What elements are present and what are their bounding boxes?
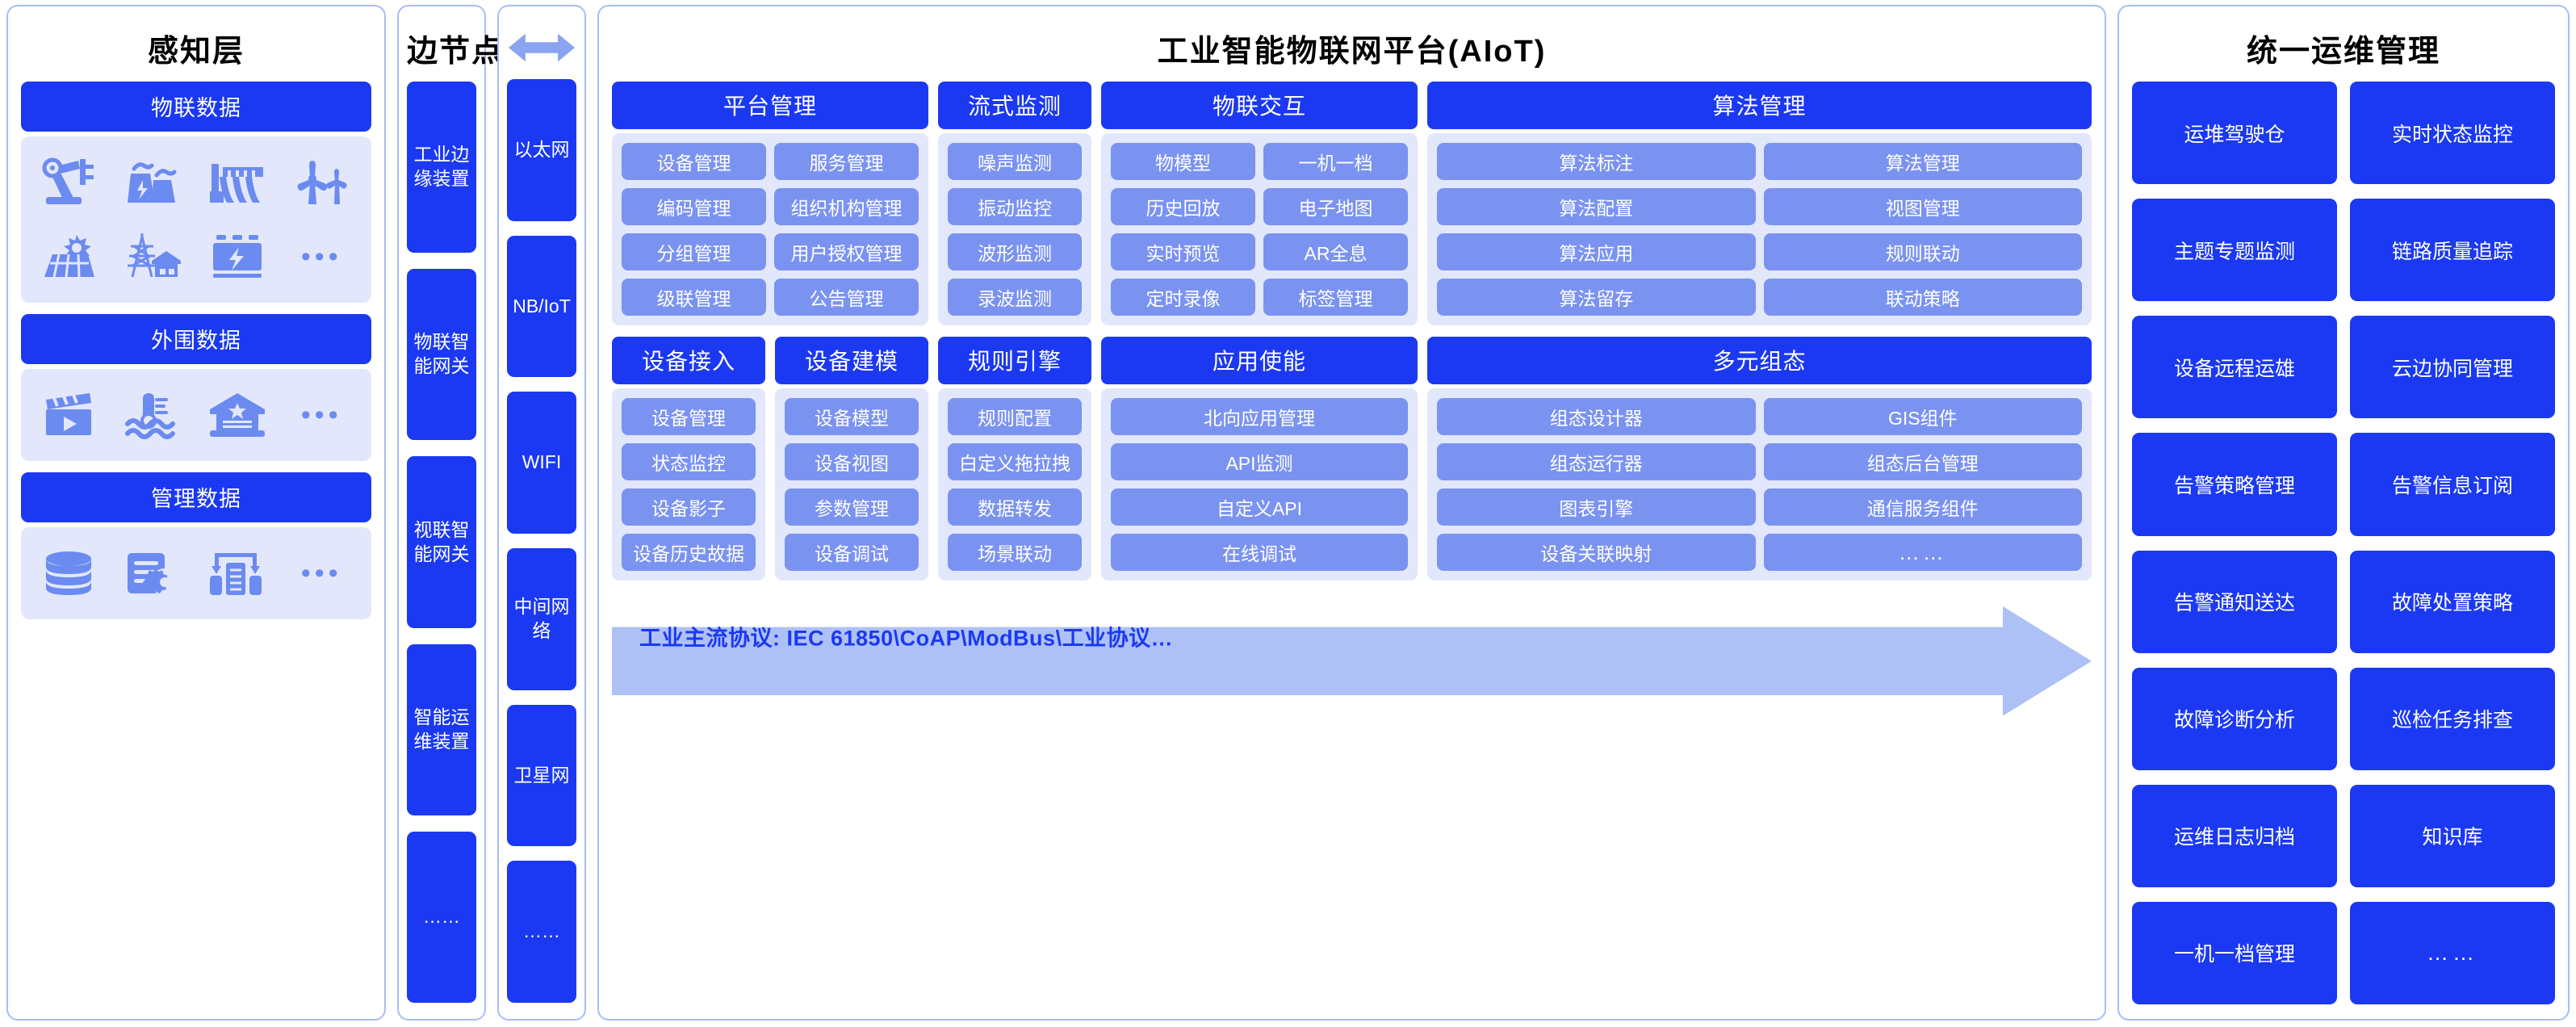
- ops-item[interactable]: 故障诊断分析: [2132, 668, 2337, 770]
- more-dots-label: •••: [301, 243, 342, 270]
- ops-items-grid: 运堆驾驶仓 实时状态监控 主题专题监测 链路质量追踪 设备远程运雄 云边协同管理…: [2132, 82, 2555, 1006]
- platform-tile[interactable]: 振动监控: [948, 188, 1082, 225]
- platform-tile[interactable]: 组织机构管理: [774, 188, 919, 225]
- card-title: 物联交互: [1101, 82, 1418, 129]
- platform-card-multi-configuration: 多元组态 组态设计器 GIS组件 组态运行器 组态后台管理 图表引擎 通信服务组…: [1427, 337, 2092, 581]
- transmission-tower-icon: [113, 222, 197, 291]
- platform-tile[interactable]: 用户授权管理: [774, 233, 919, 270]
- water-sensor-icon: [113, 380, 197, 450]
- platform-tile[interactable]: 算法配置: [1437, 188, 1756, 225]
- platform-tile[interactable]: 噪声监测: [948, 143, 1082, 180]
- platform-tile[interactable]: 设备管理: [622, 398, 756, 435]
- card-tiles: 规则配置 白定义拖拉拽 数据转发 场景联动: [938, 388, 1091, 581]
- ops-item[interactable]: 一机一档管理: [2132, 902, 2337, 1004]
- edge-node-item[interactable]: 视联智能网关: [407, 456, 476, 627]
- platform-card-app-enablement: 应用使能 北向应用管理 API监测 自定义API 在线调试: [1101, 337, 1418, 581]
- platform-card-stream-monitor: 流式监测 噪声监测 振动监控 波形监测 录波监测: [938, 82, 1091, 325]
- platform-tile[interactable]: AR全息: [1263, 233, 1408, 270]
- platform-card-algorithm-mgmt: 算法管理 算法标注 算法管理 算法配置 视图管理 算法应用 规则联动 算法留存 …: [1427, 82, 2092, 325]
- platform-title: 工业智能物联网平台(AIoT): [612, 16, 2092, 82]
- card-tiles: 设备管理 状态监控 设备影子 设备历史故据: [612, 388, 765, 581]
- platform-tile[interactable]: 电子地图: [1263, 188, 1408, 225]
- more-dots-label: •••: [301, 401, 342, 429]
- platform-tile[interactable]: 设备调试: [785, 534, 919, 571]
- card-tiles: 设备模型 设备视图 参数管理 设备调试: [775, 388, 928, 581]
- sense-group-label: 管理数据: [21, 472, 371, 522]
- data-flow-icon: [196, 539, 280, 608]
- edge-node-title: 边节点: [407, 16, 476, 82]
- protocol-banner: 工业主流协议: IEC 61850\CoAP\ModBus\工业协议…: [612, 606, 2092, 666]
- platform-tile[interactable]: 状态监控: [622, 443, 756, 480]
- card-title: 多元组态: [1427, 337, 2092, 384]
- wind-turbine-icon: [280, 148, 364, 217]
- ops-management-panel: 统一运维管理 运堆驾驶仓 实时状态监控 主题专题监测 链路质量追踪 设备远程运雄…: [2117, 5, 2570, 1021]
- hydro-dam-icon: [196, 148, 280, 217]
- ops-item[interactable]: 实时状态监控: [2350, 82, 2555, 184]
- platform-tile[interactable]: 编码管理: [622, 188, 766, 225]
- platform-tile[interactable]: 设备历史故据: [622, 534, 756, 571]
- more-dots-icon: •••: [280, 222, 364, 291]
- card-tiles: 算法标注 算法管理 算法配置 视图管理 算法应用 规则联动 算法留存 联动策略: [1427, 133, 2092, 325]
- ops-item[interactable]: 主题专题监测: [2132, 199, 2337, 301]
- card-title: 平台管理: [612, 82, 928, 129]
- ops-item[interactable]: 云边协同管理: [2350, 316, 2555, 418]
- platform-tile[interactable]: 服务管理: [774, 143, 919, 180]
- ops-item[interactable]: 巡检任务排查: [2350, 668, 2555, 770]
- platform-card-rule-engine: 规则引擎 规则配置 白定义拖拉拽 数据转发 场景联动: [938, 337, 1091, 581]
- platform-tile-more[interactable]: ……: [1764, 534, 2083, 571]
- protocol-label: 工业主流协议: IEC 61850\CoAP\ModBus\工业协议…: [639, 621, 1173, 652]
- network-item[interactable]: 以太网: [507, 79, 576, 221]
- ops-item[interactable]: 链路质量追踪: [2350, 199, 2555, 301]
- platform-tile[interactable]: 数据转发: [948, 488, 1082, 526]
- more-dots-icon: •••: [280, 380, 364, 450]
- platform-panel: 工业智能物联网平台(AIoT) 平台管理 设备管理 服务管理 编码管理 组织机构…: [597, 5, 2106, 1021]
- platform-tile[interactable]: 物模型: [1111, 143, 1255, 180]
- platform-tile[interactable]: 通信服务组件: [1764, 488, 2083, 526]
- platform-card-platform-mgmt: 平台管理 设备管理 服务管理 编码管理 组织机构管理 分组管理 用户授权管理 级…: [612, 82, 928, 325]
- platform-tile[interactable]: 算法应用: [1437, 233, 1756, 270]
- platform-row-1: 平台管理 设备管理 服务管理 编码管理 组织机构管理 分组管理 用户授权管理 级…: [612, 82, 2092, 325]
- platform-tile[interactable]: 波形监测: [948, 233, 1082, 270]
- ops-management-title: 统一运维管理: [2132, 16, 2555, 82]
- platform-tile[interactable]: 视图管理: [1764, 188, 2083, 225]
- platform-tile[interactable]: 算法标注: [1437, 143, 1756, 180]
- ops-item[interactable]: 故障处置策略: [2350, 551, 2555, 653]
- platform-card-device-modeling: 设备建模 设备模型 设备视图 参数管理 设备调试: [775, 337, 928, 581]
- sense-group-label: 物联数据: [21, 82, 371, 132]
- platform-tile[interactable]: 参数管理: [785, 488, 919, 526]
- card-tiles: 北向应用管理 API监测 自定义API 在线调试: [1101, 388, 1418, 581]
- network-item[interactable]: 卫星网: [507, 705, 576, 847]
- ops-item[interactable]: 知识库: [2350, 785, 2555, 887]
- edge-node-item[interactable]: 物联智能网关: [407, 269, 476, 440]
- platform-tile[interactable]: 设备关联映射: [1437, 534, 1756, 571]
- platform-tile[interactable]: 标签管理: [1263, 279, 1408, 316]
- sense-group-iot-data: 物联数据: [21, 82, 371, 303]
- video-clapper-icon: [29, 380, 113, 450]
- battery-storage-icon: [196, 222, 280, 291]
- platform-tile[interactable]: 场景联动: [948, 534, 1082, 571]
- platform-tile[interactable]: 定时录像: [1111, 279, 1255, 316]
- solar-panel-icon: [29, 222, 113, 291]
- platform-tile[interactable]: 组态设计器: [1437, 398, 1756, 435]
- card-title: 流式监测: [938, 82, 1091, 129]
- platform-tile[interactable]: 实时预览: [1111, 233, 1255, 270]
- platform-tile[interactable]: 组态后台管理: [1764, 443, 2083, 480]
- sense-group-icons: •••: [21, 527, 371, 619]
- platform-tile[interactable]: 组态运行器: [1437, 443, 1756, 480]
- platform-card-iot-interaction: 物联交互 物模型 一机一档 历史回放 电子地图 实时预览 AR全息 定时录像 标…: [1101, 82, 1418, 325]
- platform-tile[interactable]: 规则配置: [948, 398, 1082, 435]
- card-tiles: 噪声监测 振动监控 波形监测 录波监测: [938, 133, 1091, 325]
- platform-tile[interactable]: 分组管理: [622, 233, 766, 270]
- platform-tile[interactable]: 设备管理: [622, 143, 766, 180]
- platform-rows: 平台管理 设备管理 服务管理 编码管理 组织机构管理 分组管理 用户授权管理 级…: [612, 82, 2092, 1008]
- card-title: 应用使能: [1101, 337, 1418, 384]
- card-tiles: 物模型 一机一档 历史回放 电子地图 实时预览 AR全息 定时录像 标签管理: [1101, 133, 1418, 325]
- more-dots-icon: •••: [280, 539, 364, 608]
- network-item[interactable]: 中间网络: [507, 548, 576, 690]
- power-plant-icon: [113, 148, 197, 217]
- platform-tile[interactable]: 算法留存: [1437, 279, 1756, 316]
- network-item[interactable]: WIFI: [507, 392, 576, 534]
- card-title: 设备接入: [612, 337, 765, 384]
- card-tiles: 设备管理 服务管理 编码管理 组织机构管理 分组管理 用户授权管理 级联管理 公…: [612, 133, 928, 325]
- card-title: 规则引擎: [938, 337, 1091, 384]
- platform-tile[interactable]: 联动策略: [1764, 279, 2083, 316]
- platform-tile[interactable]: 算法管理: [1764, 143, 2083, 180]
- platform-tile[interactable]: API监测: [1111, 443, 1408, 480]
- platform-tile[interactable]: 设备模型: [785, 398, 919, 435]
- document-settings-icon: [113, 539, 197, 608]
- more-dots-label: •••: [301, 560, 342, 587]
- database-icon: [29, 539, 113, 608]
- ops-item[interactable]: 告警信息订阅: [2350, 433, 2555, 535]
- ops-item[interactable]: 告警策略管理: [2132, 433, 2337, 535]
- platform-tile[interactable]: 录波监测: [948, 279, 1082, 316]
- network-item[interactable]: NB/IoT: [507, 236, 576, 378]
- double-arrow-icon: [507, 16, 576, 79]
- ops-item[interactable]: 设备远程运雄: [2132, 316, 2337, 418]
- sense-layer-panel: 感知层 物联数据: [6, 5, 386, 1021]
- sense-group-icons: •••: [21, 136, 371, 303]
- robot-arm-icon: [29, 148, 113, 217]
- platform-tile[interactable]: 北向应用管理: [1111, 398, 1408, 435]
- platform-tile[interactable]: 设备视图: [785, 443, 919, 480]
- network-item-more[interactable]: ……: [507, 861, 576, 1003]
- platform-tile[interactable]: 规则联动: [1764, 233, 2083, 270]
- ops-item-more[interactable]: ……: [2350, 902, 2555, 1004]
- platform-tile[interactable]: GIS组件: [1764, 398, 2083, 435]
- platform-tile[interactable]: 公告管理: [774, 279, 919, 316]
- ops-item[interactable]: 运维日志归档: [2132, 785, 2337, 887]
- card-title: 算法管理: [1427, 82, 2092, 129]
- platform-tile[interactable]: 一机一档: [1263, 143, 1408, 180]
- platform-tile[interactable]: 级联管理: [622, 279, 766, 316]
- edge-node-list: 工业边缘装置 物联智能网关 视联智能网关 智能运维装置 ……: [407, 82, 476, 1006]
- ops-item[interactable]: 运堆驾驶仓: [2132, 82, 2337, 184]
- platform-tile[interactable]: 图表引擎: [1437, 488, 1756, 526]
- sense-layer-groups: 物联数据: [21, 82, 371, 1006]
- platform-tile[interactable]: 历史回放: [1111, 188, 1255, 225]
- edge-node-item-more[interactable]: ……: [407, 832, 476, 1003]
- edge-node-item[interactable]: 工业边缘装置: [407, 82, 476, 253]
- architecture-diagram: 感知层 物联数据: [0, 0, 2576, 1027]
- sense-layer-title: 感知层: [21, 16, 371, 82]
- sense-group-icons: •••: [21, 369, 371, 461]
- platform-card-device-access: 设备接入 设备管理 状态监控 设备影子 设备历史故据: [612, 337, 765, 581]
- edge-node-item[interactable]: 智能运维装置: [407, 644, 476, 815]
- sense-group-label: 外围数据: [21, 314, 371, 364]
- card-title: 设备建模: [775, 337, 928, 384]
- ops-item[interactable]: 告警通知送达: [2132, 551, 2337, 653]
- platform-tile[interactable]: 设备影子: [622, 488, 756, 526]
- edge-node-panel: 边节点 工业边缘装置 物联智能网关 视联智能网关 智能运维装置 ……: [397, 5, 486, 1021]
- government-building-icon: [196, 380, 280, 450]
- network-panel: 以太网 NB/IoT WIFI 中间网络 卫星网 ……: [497, 5, 586, 1021]
- platform-tile[interactable]: 自定义API: [1111, 488, 1408, 526]
- sense-group-management-data: 管理数据: [21, 472, 371, 619]
- platform-tile[interactable]: 在线调试: [1111, 534, 1408, 571]
- platform-tile[interactable]: 白定义拖拉拽: [948, 443, 1082, 480]
- network-list: 以太网 NB/IoT WIFI 中间网络 卫星网 ……: [507, 79, 576, 1006]
- sense-group-peripheral-data: 外围数据: [21, 314, 371, 461]
- card-tiles: 组态设计器 GIS组件 组态运行器 组态后台管理 图表引擎 通信服务组件 设备关…: [1427, 388, 2092, 581]
- platform-row-2: 设备接入 设备管理 状态监控 设备影子 设备历史故据 设备建模 设备模型 设备视…: [612, 337, 2092, 581]
